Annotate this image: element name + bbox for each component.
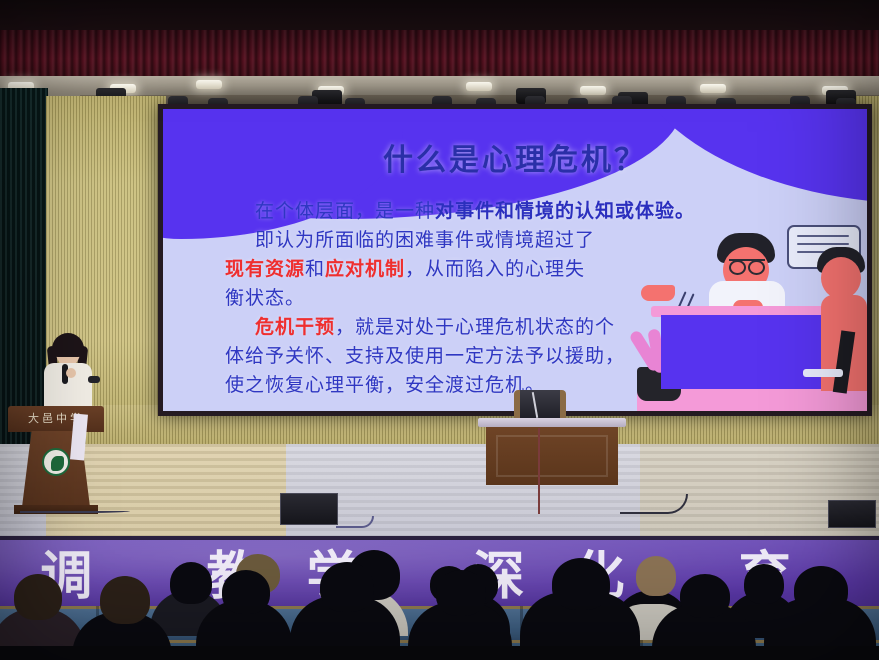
slide-text-segment: 和 bbox=[305, 258, 325, 280]
presenter-hair bbox=[52, 333, 84, 357]
slide-text-segment: 使之恢复心理平衡，安全渡过危机。 bbox=[225, 374, 545, 396]
audience bbox=[0, 548, 879, 660]
clicker-icon bbox=[88, 376, 100, 383]
slide-text-segment: 体给予关怀、支持及使用一定方法予以援助， bbox=[225, 345, 625, 367]
led-screen[interactable]: 什么是心理危机？ 在个体层面，是一种对事件和情境的认知或体验。即认为所面临的困难… bbox=[158, 104, 872, 416]
glasses-icon bbox=[729, 259, 765, 271]
floor-cable-right bbox=[620, 494, 688, 514]
audience-head bbox=[680, 574, 730, 618]
table-cable bbox=[538, 428, 540, 514]
slide-surface: 什么是心理危机？ 在个体层面，是一种对事件和情境的认知或体验。即认为所面临的困难… bbox=[163, 109, 867, 411]
chair-icon bbox=[803, 369, 843, 377]
audience-head bbox=[744, 564, 784, 604]
photo-bottom-edge bbox=[0, 646, 879, 660]
audience-head bbox=[552, 558, 610, 610]
floor-monitor-right bbox=[828, 500, 876, 528]
audience-head bbox=[170, 562, 212, 604]
presentation-table bbox=[484, 418, 620, 488]
audience-head bbox=[14, 574, 62, 620]
table-body bbox=[486, 427, 618, 485]
audience-head bbox=[794, 566, 848, 614]
slide-text-segment: ，就是对处于心理危机状态的个 bbox=[335, 316, 615, 338]
slide-text-segment: ，从而陷入的心理失 bbox=[405, 258, 585, 280]
floor-cable bbox=[20, 508, 130, 513]
school-emblem bbox=[42, 448, 70, 476]
podium: 大邑中学 bbox=[8, 406, 104, 514]
client-head bbox=[821, 257, 861, 299]
audience-head bbox=[222, 570, 270, 614]
slide-text-segment: 应对机制 bbox=[325, 258, 405, 280]
slide-text-segment: 衡状态。 bbox=[225, 287, 305, 309]
audience-head bbox=[100, 576, 150, 624]
slide-title: 什么是心理危机？ bbox=[163, 135, 867, 179]
slide-text-segment: 在个体层面，是一种 bbox=[255, 200, 435, 222]
speaker-cable bbox=[336, 516, 374, 528]
podium-school-name: 大邑中学 bbox=[8, 410, 104, 426]
audience-head bbox=[636, 556, 676, 596]
red-stage-curtain bbox=[0, 30, 879, 82]
paper-sheet bbox=[70, 413, 88, 460]
slide-text-segment: 危机干预 bbox=[255, 316, 335, 338]
audience-head bbox=[320, 562, 374, 612]
hand-icon bbox=[641, 285, 675, 301]
slide-text-segment: 即认为所面临的困难事件或情境超过了 bbox=[255, 229, 595, 251]
table-top bbox=[478, 418, 626, 427]
floor-monitor-left bbox=[280, 493, 338, 525]
slide-text-segment: 对事件和情境的认知或体验。 bbox=[435, 200, 695, 222]
counseling-scene-illustration bbox=[637, 221, 867, 411]
confidence-monitor bbox=[514, 390, 566, 420]
audience-head bbox=[436, 570, 486, 616]
slide-text-segment: 现有资源 bbox=[225, 258, 305, 280]
auditorium-photo: 什么是心理危机？ 在个体层面，是一种对事件和情境的认知或体验。即认为所面临的困难… bbox=[0, 0, 879, 660]
